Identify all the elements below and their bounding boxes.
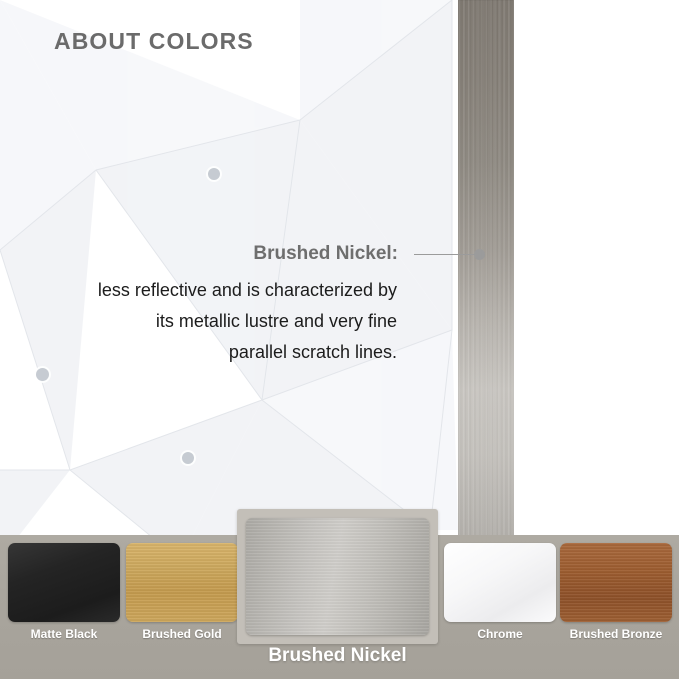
- swatch-label-chrome: Chrome: [444, 627, 556, 641]
- callout-body-line-3: parallel scratch lines.: [40, 337, 397, 368]
- swatch-brushed-gold[interactable]: Brushed Gold: [126, 543, 238, 641]
- swatch-plate-brushed-nickel: [246, 518, 429, 635]
- decorative-dot: [208, 168, 220, 180]
- callout-title: Brushed Nickel:: [130, 243, 398, 265]
- callout-body-line-1: less reflective and is characterized by: [40, 275, 397, 306]
- callout-body: less reflective and is characterized by …: [40, 275, 397, 368]
- callout-body-line-2: its metallic lustre and very fine: [40, 306, 397, 337]
- swatch-brushed-nickel-selected[interactable]: [237, 509, 438, 644]
- swatch-brushed-bronze[interactable]: Brushed Bronze: [560, 543, 672, 641]
- brushed-nickel-strip-image: [458, 0, 514, 541]
- swatch-label-brushed-nickel: Brushed Nickel: [237, 645, 438, 667]
- swatch-plate-brushed-gold: [126, 543, 238, 622]
- swatch-label-brushed-bronze: Brushed Bronze: [560, 627, 672, 641]
- callout-leader-dot-icon: [474, 249, 485, 260]
- callout-leader-line: [414, 254, 478, 255]
- swatch-matte-black[interactable]: Matte Black: [8, 543, 120, 641]
- swatch-label-brushed-gold: Brushed Gold: [126, 627, 238, 641]
- swatch-plate-matte-black: [8, 543, 120, 622]
- decorative-dot: [182, 452, 194, 464]
- swatch-plate-chrome: [444, 543, 556, 622]
- color-palette-bar: Matte Black Brushed Gold Chrome Brushed …: [0, 535, 679, 679]
- decorative-dot: [36, 368, 49, 381]
- swatch-label-matte-black: Matte Black: [8, 627, 120, 641]
- page-title: ABOUT COLORS: [54, 28, 254, 55]
- about-colors-infographic: ABOUT COLORS Brushed Nickel: less reflec…: [0, 0, 679, 679]
- swatch-plate-brushed-bronze: [560, 543, 672, 622]
- swatch-chrome[interactable]: Chrome: [444, 543, 556, 641]
